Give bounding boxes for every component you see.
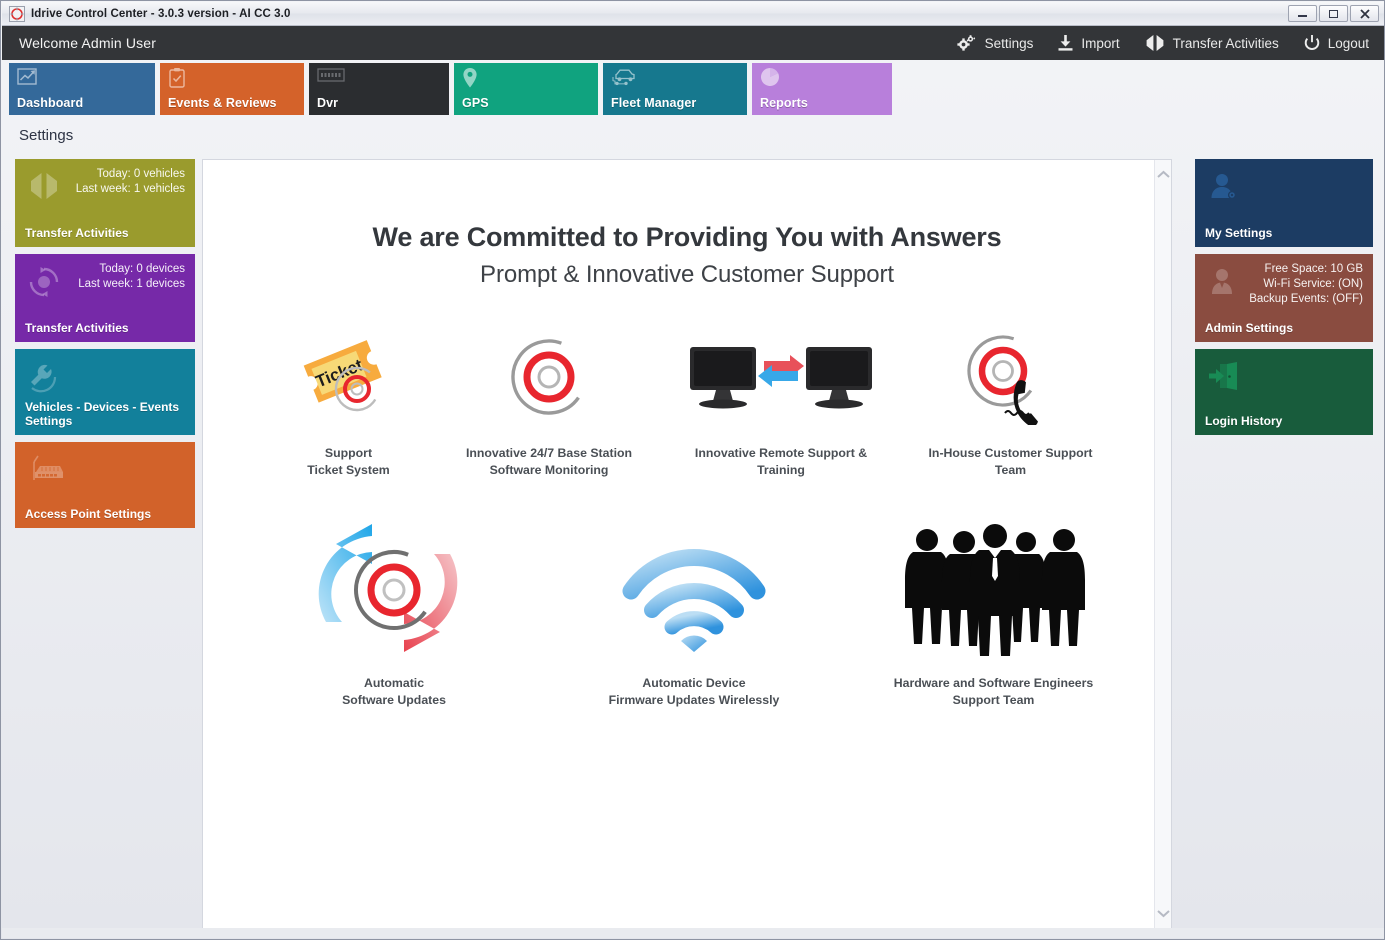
scroll-up-icon[interactable]: [1155, 166, 1172, 183]
caption-line-1: Innovative 24/7 Base Station: [444, 445, 654, 462]
right-tile-title: My Settings: [1205, 226, 1365, 240]
caption-line-1: Hardware and Software Engineers: [881, 675, 1106, 692]
right-sidebar: My Settings Free Space: 10 GB Wi-Fi Serv…: [1195, 159, 1373, 442]
gears-icon: [956, 34, 978, 52]
admin-user-icon: [1207, 266, 1239, 303]
right-tile-title: Admin Settings: [1205, 321, 1365, 335]
nav-tab-reports[interactable]: Reports: [752, 63, 892, 115]
page-subheadline: Prompt & Innovative Customer Support: [203, 261, 1171, 289]
status-bar: [2, 928, 1385, 938]
nav-tab-gps[interactable]: GPS: [454, 63, 598, 115]
header-import-label: Import: [1081, 36, 1119, 51]
features-row-1: Ticket Support Ticket System: [261, 323, 1131, 479]
scroll-down-icon[interactable]: [1155, 905, 1172, 922]
target-rings-icon: [444, 323, 654, 431]
feature-automatic-software-updates: Automatic Software Updates: [279, 521, 509, 709]
nav-tab-reports-label: Reports: [760, 96, 808, 110]
target-phone-icon: [908, 323, 1113, 431]
nav-tab-fleet-manager[interactable]: Fleet Manager: [603, 63, 747, 115]
feature-caption: Innovative 24/7 Base Station Software Mo…: [444, 445, 654, 479]
power-icon: [1303, 34, 1321, 52]
application-window: Idrive Control Center - 3.0.3 version - …: [0, 0, 1385, 940]
feature-automatic-firmware-updates: Automatic Device Firmware Updates Wirele…: [579, 521, 809, 709]
main-content-panel: We are Committed to Providing You with A…: [202, 159, 1172, 929]
window-title: Idrive Control Center - 3.0.3 version - …: [31, 8, 290, 20]
caption-line-2: Software Updates: [279, 692, 509, 709]
caption-line-1: Innovative Remote Support &: [676, 445, 886, 462]
caption-line-1: Support: [261, 445, 436, 462]
welcome-label: Welcome Admin User: [19, 35, 156, 51]
cars-icon: [611, 67, 739, 91]
chart-trend-icon: [17, 67, 147, 91]
transfer-arrows-icon: [1144, 34, 1166, 52]
nav-tab-fleet-manager-label: Fleet Manager: [611, 96, 696, 110]
dvr-icon: [317, 67, 441, 91]
right-tile-title: Login History: [1205, 414, 1365, 428]
caption-line-2: Team: [908, 462, 1113, 479]
features-grid: Ticket Support Ticket System: [203, 323, 1171, 709]
header-logout-label: Logout: [1328, 36, 1369, 51]
people-silhouette-icon: [881, 521, 1106, 661]
header-settings-button[interactable]: Settings: [956, 34, 1034, 52]
left-tile-transfer-activities-vehicles[interactable]: Today: 0 vehicles Last week: 1 vehicles …: [15, 159, 195, 247]
refresh-target-icon: [279, 521, 509, 661]
caption-line-2: Training: [676, 462, 886, 479]
right-tile-my-settings[interactable]: My Settings: [1195, 159, 1373, 247]
nav-tab-dvr[interactable]: Dvr: [309, 63, 449, 115]
left-tile-transfer-activities-devices[interactable]: Today: 0 devices Last week: 1 devices Tr…: [15, 254, 195, 342]
caption-line-2: Support Team: [881, 692, 1106, 709]
user-settings-icon: [1207, 171, 1241, 208]
transfer-arrows-icon: [27, 171, 61, 206]
nav-tab-events-reviews-label: Events & Reviews: [168, 96, 277, 110]
download-icon: [1057, 34, 1074, 52]
header-transfer-activities-button[interactable]: Transfer Activities: [1144, 34, 1279, 52]
two-monitors-icon: [676, 323, 886, 431]
window-controls: [1288, 5, 1385, 22]
caption-line-2: Firmware Updates Wirelessly: [579, 692, 809, 709]
breadcrumb: Settings: [19, 127, 73, 144]
caption-line-1: Automatic Device: [579, 675, 809, 692]
nav-tab-dvr-label: Dvr: [317, 96, 338, 110]
minimize-button[interactable]: [1288, 5, 1317, 22]
caption-line-2: Ticket System: [261, 462, 436, 479]
feature-caption: Support Ticket System: [261, 445, 436, 479]
sync-device-icon: [27, 266, 61, 303]
feature-in-house-support-team: In-House Customer Support Team: [908, 323, 1113, 479]
support-ticket-icon: Ticket: [261, 323, 436, 431]
main-scrollbar[interactable]: [1154, 160, 1171, 928]
caption-line-2: Software Monitoring: [444, 462, 654, 479]
nav-tab-dashboard-label: Dashboard: [17, 96, 83, 110]
left-tile-title: Vehicles - Devices - Events Settings: [25, 400, 187, 428]
nav-tab-gps-label: GPS: [462, 96, 489, 110]
map-pin-icon: [462, 67, 590, 91]
caption-line-1: Automatic: [279, 675, 509, 692]
app-header: Welcome Admin User: [2, 26, 1385, 60]
feature-caption: Automatic Software Updates: [279, 675, 509, 709]
wrench-icon: [27, 361, 61, 398]
feature-caption: Hardware and Software Engineers Support …: [881, 675, 1106, 709]
router-icon: [27, 454, 67, 491]
feature-caption: In-House Customer Support Team: [908, 445, 1113, 479]
clipboard-check-icon: [168, 67, 296, 91]
hero-section: We are Committed to Providing You with A…: [203, 160, 1171, 289]
nav-tab-dashboard[interactable]: Dashboard: [9, 63, 155, 115]
app-target-icon: [9, 6, 25, 22]
feature-caption: Automatic Device Firmware Updates Wirele…: [579, 675, 809, 709]
right-tile-admin-settings[interactable]: Free Space: 10 GB Wi-Fi Service: (ON) Ba…: [1195, 254, 1373, 342]
maximize-button[interactable]: [1319, 5, 1348, 22]
feature-support-ticket-system: Ticket Support Ticket System: [261, 323, 436, 479]
feature-base-station-monitoring: Innovative 24/7 Base Station Software Mo…: [444, 323, 654, 479]
left-tile-vehicles-devices-events-settings[interactable]: Vehicles - Devices - Events Settings: [15, 349, 195, 435]
close-button[interactable]: [1350, 5, 1379, 22]
feature-remote-support-training: Innovative Remote Support & Training: [676, 323, 886, 479]
left-tile-title: Transfer Activities: [25, 321, 187, 335]
left-sidebar: Today: 0 vehicles Last week: 1 vehicles …: [15, 159, 195, 535]
pie-chart-icon: [760, 67, 884, 91]
header-logout-button[interactable]: Logout: [1303, 34, 1369, 52]
caption-line-1: In-House Customer Support: [908, 445, 1113, 462]
wifi-icon: [579, 521, 809, 661]
left-tile-title: Access Point Settings: [25, 507, 187, 521]
nav-tab-events-reviews[interactable]: Events & Reviews: [160, 63, 304, 115]
header-actions: Settings Import: [932, 34, 1385, 52]
feature-hardware-software-engineers: Hardware and Software Engineers Support …: [881, 521, 1106, 709]
header-transfer-label: Transfer Activities: [1173, 36, 1279, 51]
main-navigation: Dashboard Events & Reviews: [9, 63, 892, 115]
left-tile-title: Transfer Activities: [25, 226, 187, 240]
header-settings-label: Settings: [985, 36, 1034, 51]
feature-caption: Innovative Remote Support & Training: [676, 445, 886, 479]
header-import-button[interactable]: Import: [1057, 34, 1119, 52]
page-headline: We are Committed to Providing You with A…: [203, 222, 1171, 253]
features-row-2: Automatic Software Updates: [261, 521, 1131, 709]
title-bar: Idrive Control Center - 3.0.3 version - …: [2, 2, 1385, 26]
login-door-icon: [1207, 361, 1241, 396]
left-tile-access-point-settings[interactable]: Access Point Settings: [15, 442, 195, 528]
right-tile-login-history[interactable]: Login History: [1195, 349, 1373, 435]
